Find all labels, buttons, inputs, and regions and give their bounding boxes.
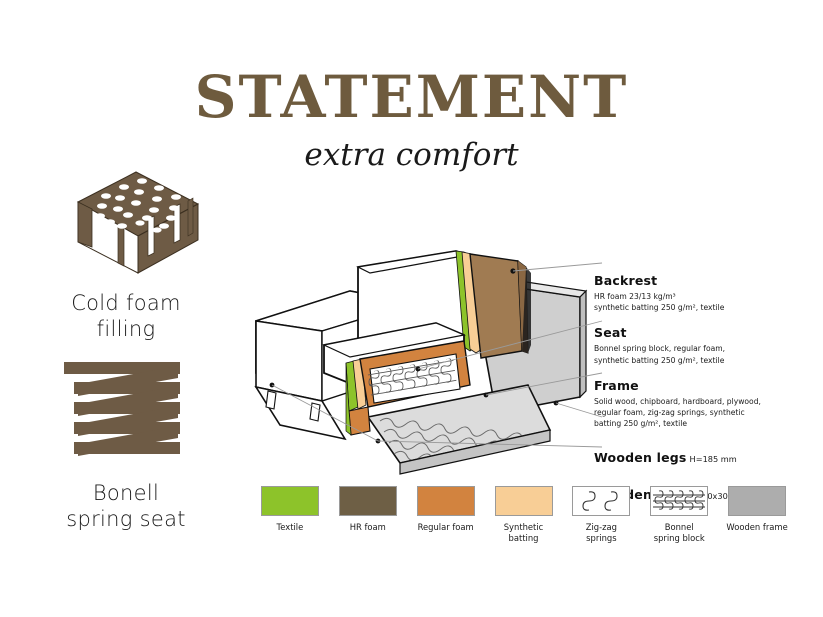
cold-foam-label: Cold foam filling [16, 290, 236, 343]
callout-frame-title: Frame [594, 378, 639, 393]
legend-label-regular-foam: Regular foam [414, 522, 478, 533]
callout-list: Backrest HR foam 23/13 kg/m³ synthetic b… [594, 272, 823, 515]
callout-frame-line-3: batting 250 g/m², textile [594, 418, 823, 429]
legend-item-hr-foam: HR foam [336, 486, 400, 533]
cold-foam-label-line1: Cold foam [16, 290, 236, 316]
bonell-label-line1: Bonell [16, 480, 236, 506]
legend-item-synthetic-batting: Synthetic batting [492, 486, 556, 543]
page-title: STATEMENT [0, 68, 823, 126]
callout-wooden-legs-title: Wooden legs [594, 450, 687, 465]
callout-seat-line-1: Bonnel spring block, regular foam, [594, 343, 823, 354]
foam-block-icon [40, 170, 200, 285]
legend-item-regular-foam: Regular foam [414, 486, 478, 533]
infographic-page: STATEMENT extra comfort [0, 0, 823, 617]
legend-item-textile: Textile [258, 486, 322, 533]
legend-label-bonnel-block: Bonnel spring block [647, 522, 711, 543]
legend-label-textile: Textile [258, 522, 322, 533]
callout-frame: Frame Solid wood, chipboard, hardboard, … [594, 377, 823, 430]
cold-foam-label-line2: filling [16, 316, 236, 342]
callout-seat-line-2: synthetic batting 250 g/m², textile [594, 355, 823, 366]
regular-foam-swatch [417, 486, 475, 516]
callout-seat-desc: Bonnel spring block, regular foam, synth… [594, 343, 823, 365]
callout-frame-line-1: Solid wood, chipboard, hardboard, plywoo… [594, 396, 823, 407]
legend-item-wooden-frame: Wooden frame [725, 486, 789, 533]
sofa-cutaway-diagram [250, 225, 630, 480]
page-subtitle: extra comfort [0, 140, 823, 171]
legend-label-wooden-frame: Wooden frame [725, 522, 789, 533]
callout-wooden-legs-spec: H=185 mm [687, 454, 737, 464]
materials-legend: Textile HR foam Regular foam Synthetic b… [258, 486, 803, 543]
callout-backrest-line-1: HR foam 23/13 kg/m³ [594, 291, 823, 302]
callout-seat: Seat Bonnel spring block, regular foam, … [594, 324, 823, 365]
bonell-label-line2: spring seat [16, 506, 236, 532]
legend-item-zigzag-springs: Zig-zag springs [569, 486, 633, 543]
callout-seat-title: Seat [594, 325, 627, 340]
legend-label-zigzag-springs: Zig-zag springs [569, 522, 633, 543]
callout-frame-line-2: regular foam, zig-zag springs, synthetic [594, 407, 823, 418]
legend-label-bonnel-line2: spring block [647, 533, 711, 544]
zigzag-spring-icon [60, 360, 195, 465]
callout-wooden-legs: Wooden legsH=185 mm [594, 449, 823, 467]
bonnel-block-swatch [650, 486, 708, 516]
hr-foam-swatch [339, 486, 397, 516]
bonell-spring-label: Bonell spring seat [16, 480, 236, 533]
legend-label-synthetic-batting: Synthetic batting [492, 522, 556, 543]
title-block: STATEMENT extra comfort [0, 68, 823, 171]
callout-backrest-title: Backrest [594, 273, 657, 288]
textile-swatch [261, 486, 319, 516]
zigzag-springs-swatch [572, 486, 630, 516]
legend-label-hr-foam: HR foam [336, 522, 400, 533]
callout-backrest-line-2: synthetic batting 250 g/m², textile [594, 302, 823, 313]
wooden-frame-swatch [728, 486, 786, 516]
callout-frame-desc: Solid wood, chipboard, hardboard, plywoo… [594, 396, 823, 430]
legend-item-bonnel-block: Bonnel spring block [647, 486, 711, 543]
synthetic-batting-swatch [495, 486, 553, 516]
callout-backrest: Backrest HR foam 23/13 kg/m³ synthetic b… [594, 272, 823, 313]
callout-backrest-desc: HR foam 23/13 kg/m³ synthetic batting 25… [594, 291, 823, 313]
legend-label-bonnel-line1: Bonnel [647, 522, 711, 533]
